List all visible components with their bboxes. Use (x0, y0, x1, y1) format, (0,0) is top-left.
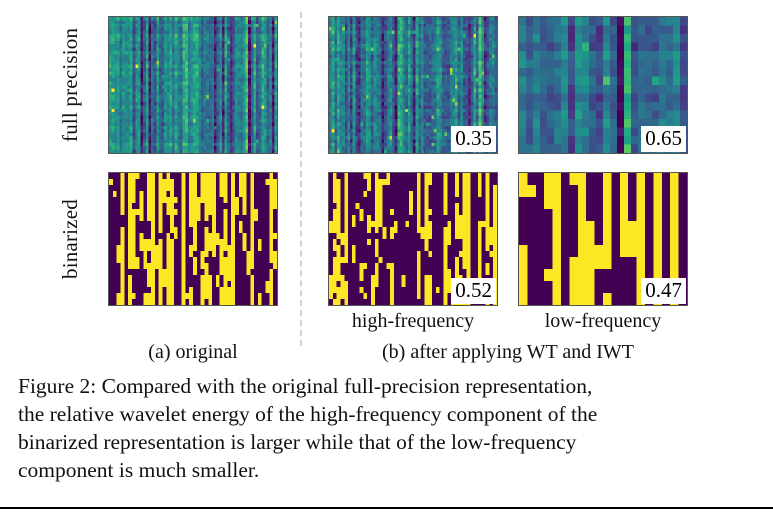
energy-value-full-precision-high: 0.35 (451, 126, 496, 152)
heatmap-binarized-low-frequency: 0.47 (518, 172, 688, 306)
caption-line-1: Figure 2: Compared with the original ful… (18, 372, 756, 400)
heatmap-canvas (109, 17, 277, 153)
figure-2: full precision binarized 0.35 0.65 0.52 … (0, 0, 773, 516)
caption-line-3: binarized representation is larger while… (18, 428, 756, 456)
caption-line-2: the relative wavelet energy of the high-… (18, 400, 756, 428)
row-label-full-precision: full precision (58, 16, 83, 154)
energy-value-full-precision-low: 0.65 (641, 126, 686, 152)
energy-value-binarized-high: 0.52 (451, 278, 496, 304)
row-label-binarized: binarized (58, 172, 83, 306)
heatmap-full-precision-original (108, 16, 278, 154)
heatmap-full-precision-high-frequency: 0.35 (328, 16, 498, 154)
heatmap-canvas (109, 173, 277, 305)
page-bottom-rule (0, 507, 773, 509)
column-label-low-frequency: low-frequency (518, 310, 688, 333)
caption-line-4: component is much smaller. (18, 456, 756, 484)
heatmap-full-precision-low-frequency: 0.65 (518, 16, 688, 154)
heatmap-binarized-original (108, 172, 278, 306)
subfigure-caption-b: (b) after applying WT and IWT (328, 341, 688, 364)
energy-value-binarized-low: 0.47 (641, 278, 686, 304)
column-label-high-frequency: high-frequency (328, 310, 498, 333)
heatmap-binarized-high-frequency: 0.52 (328, 172, 498, 306)
figure-caption: Figure 2: Compared with the original ful… (18, 372, 756, 484)
panel-group-divider (300, 12, 302, 346)
subfigure-caption-a: (a) original (108, 341, 278, 364)
